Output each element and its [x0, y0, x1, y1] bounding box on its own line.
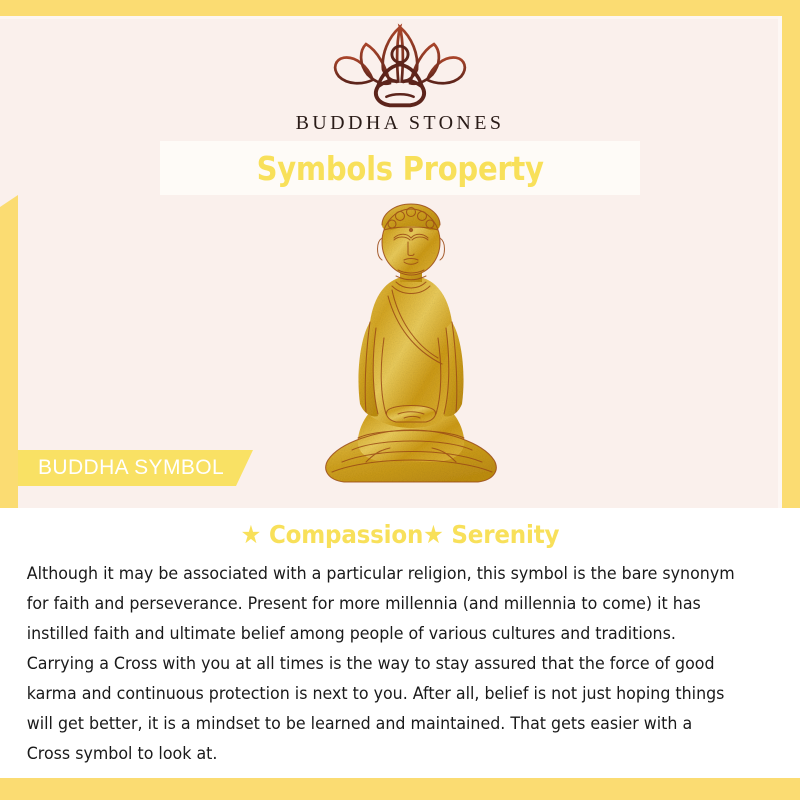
- buddha-statue-icon: [318, 198, 504, 494]
- page-title: Symbols Property: [256, 149, 543, 188]
- poster-canvas: BUDDHA STONES Symbols Property: [0, 0, 800, 800]
- frame-bar-top: [0, 0, 800, 16]
- content-panel: ★ Compassion★ Serenity Although it may b…: [0, 508, 800, 778]
- title-banner: Symbols Property: [160, 141, 640, 195]
- brand-name: BUDDHA STONES: [0, 112, 800, 135]
- frame-bar-bottom: [0, 778, 800, 800]
- ribbon-label: BUDDHA SYMBOL: [18, 456, 224, 480]
- lotus-meditation-icon: [315, 22, 485, 110]
- ribbon-tag: BUDDHA SYMBOL: [18, 450, 253, 486]
- brand-header: BUDDHA STONES: [0, 22, 800, 135]
- frame-inner-edge-top: [0, 16, 800, 19]
- content-paragraph: Although it may be associated with a par…: [0, 559, 764, 769]
- content-headline: ★ Compassion★ Serenity: [32, 520, 768, 549]
